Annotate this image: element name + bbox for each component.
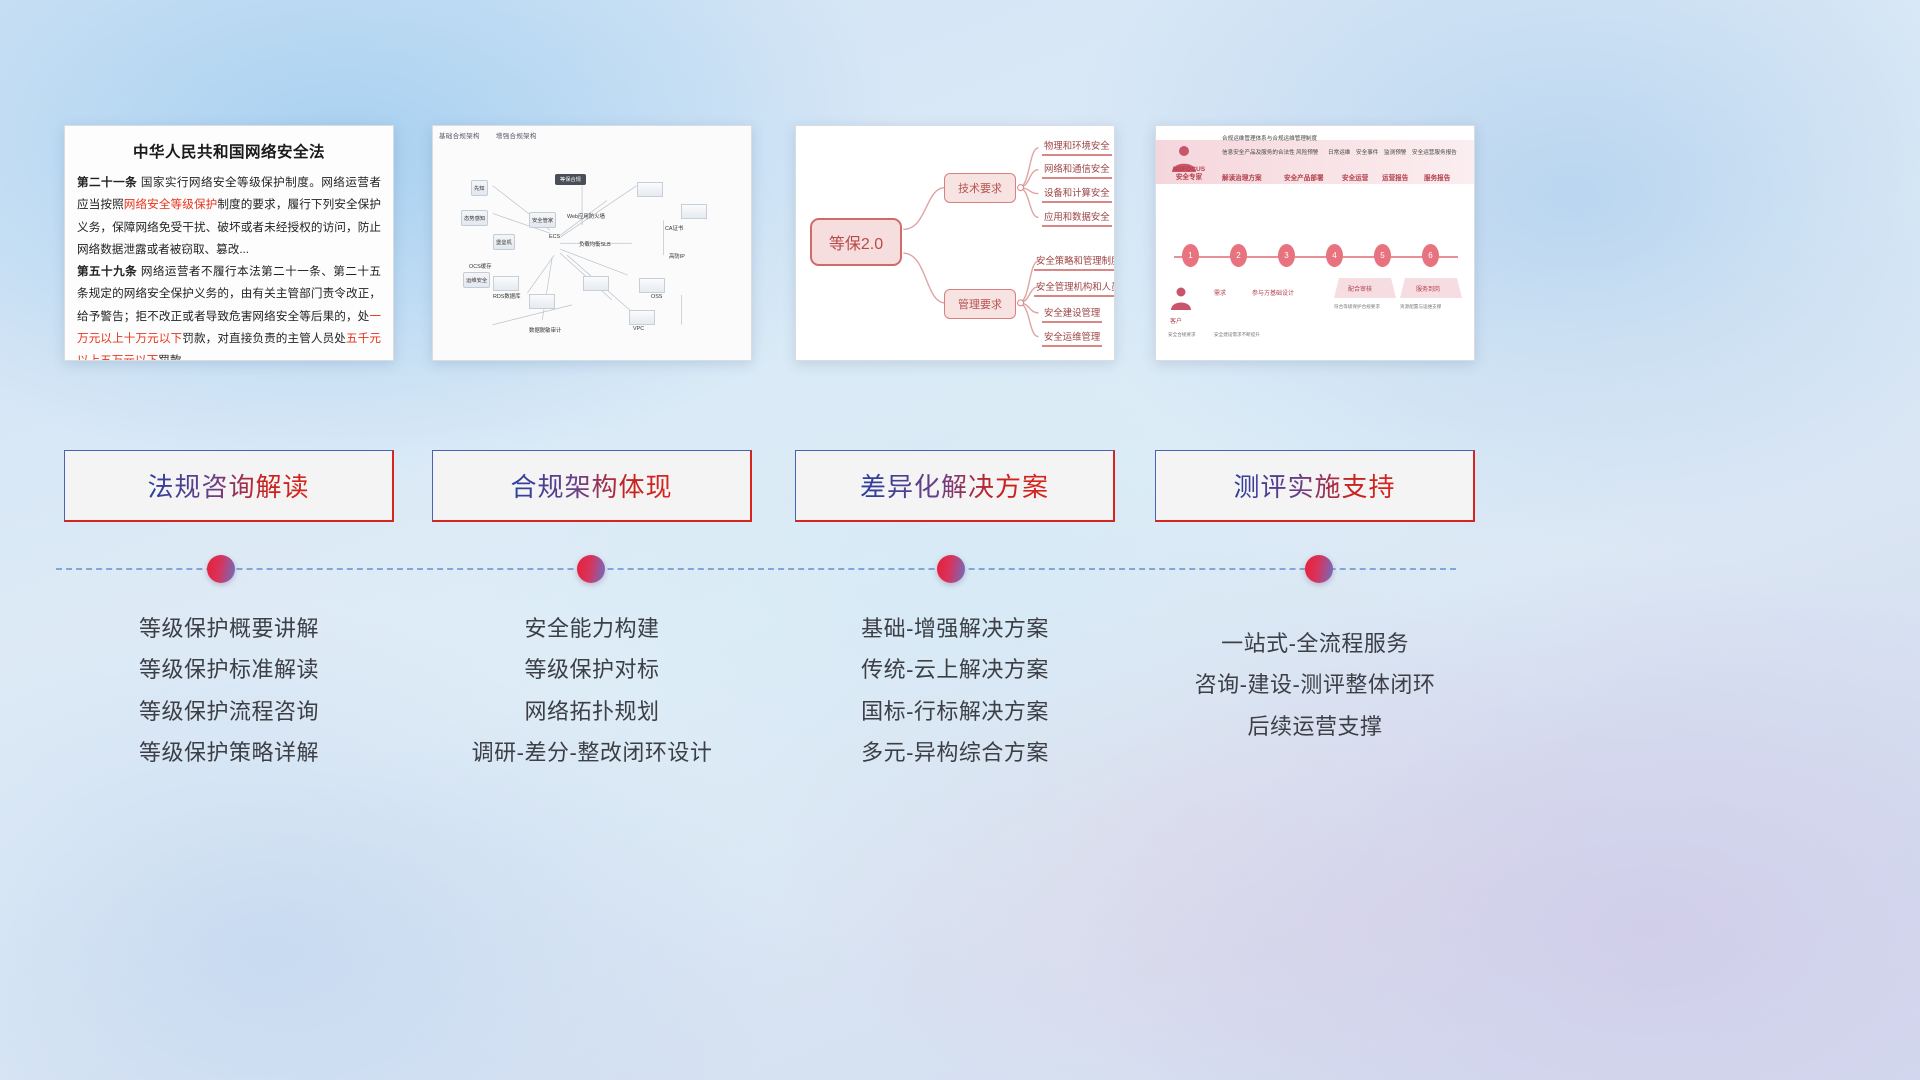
article-21-highlight: 网络安全等级保护 <box>124 198 218 211</box>
roadmap-brand-line1: NSFOCUS <box>1166 166 1212 174</box>
roadmap-top-tag-4: 监测预警 <box>1384 148 1406 156</box>
arch-shape-2 <box>583 276 609 291</box>
list-item: 安全能力构建 <box>432 608 752 649</box>
roadmap-node-4: 4 <box>1326 244 1343 267</box>
list-item: 等级保护流程咨询 <box>64 691 394 732</box>
architecture-canvas: 基础合规架构 增强合规架构 等保合规 先知 态势感知 安全管家 堡垒机 运维安全 <box>433 126 751 360</box>
roadmap-brand: NSFOCUS 安全专家 <box>1166 166 1212 182</box>
roadmap-step-title-1: 解读治理方案 <box>1222 172 1262 182</box>
roadmap-bottom-tag-2: 配合审核 <box>1348 284 1372 293</box>
list-item: 网络拓扑规划 <box>432 691 752 732</box>
section-heading-box-2[interactable]: 合规架构体现 <box>432 450 752 522</box>
arch-shape-4 <box>629 310 655 325</box>
mindmap-leaf-t1: 物理和环境安全 <box>1042 138 1112 156</box>
list-item: 咨询-建设-测评整体闭环 <box>1155 664 1475 705</box>
section-heading-box-1[interactable]: 法规咨询解读 <box>64 450 394 522</box>
arch-label-ca: CA证书 <box>665 224 683 232</box>
roadmap-tiny-2: 符合等级保护合规要求 <box>1334 304 1380 310</box>
timeline-dot-1[interactable] <box>207 555 235 583</box>
section-items-col-2: 安全能力构建 等级保护对标 网络拓扑规划 调研-差分-整改闭环设计 <box>432 608 752 773</box>
list-item: 等级保护对标 <box>432 649 752 690</box>
arch-label-ecs: ECS <box>549 234 560 240</box>
customer-icon <box>1166 284 1196 314</box>
roadmap-step-title-5: 服务报告 <box>1424 172 1450 182</box>
list-item: 等级保护概要讲解 <box>64 608 394 649</box>
roadmap-node-2: 2 <box>1230 244 1247 267</box>
roadmap-top-tag-1: 风险预警 <box>1296 148 1318 156</box>
timeline-dot-3[interactable] <box>937 555 965 583</box>
roadmap-node-6: 6 <box>1422 244 1439 267</box>
section-heading-label-4: 测评实施支持 <box>1233 467 1395 504</box>
roadmap-step-title-2: 安全产品部署 <box>1284 172 1324 182</box>
section-heading-label-2: 合规架构体现 <box>510 467 672 504</box>
list-item: 等级保护标准解读 <box>64 649 394 690</box>
mindmap-branch-technical: 技术要求 <box>944 173 1016 203</box>
mindmap-leaf-m4: 安全运维管理 <box>1042 329 1102 347</box>
list-item: 一站式-全流程服务 <box>1155 623 1475 664</box>
section-heading-box-3[interactable]: 差异化解决方案 <box>795 450 1115 522</box>
arch-shape-3 <box>639 278 665 293</box>
timeline-dot-4[interactable] <box>1305 555 1333 583</box>
roadmap-progress-line <box>1174 256 1458 258</box>
mindmap-leaf-t2: 网络和通信安全 <box>1042 161 1112 179</box>
mindmap-card: 等保2.0 技术要求 管理要求 物理和环境安全 网络和通信安全 设备和计算安全 … <box>795 125 1115 361</box>
section-items-col-4: 一站式-全流程服务 咨询-建设-测评整体闭环 后续运营支撑 <box>1155 623 1475 747</box>
roadmap-bottom-tag-3: 服务到岗 <box>1416 284 1440 293</box>
roadmap-node-1: 1 <box>1182 244 1199 267</box>
list-item: 多元-异构综合方案 <box>795 732 1115 773</box>
timeline-dot-2[interactable] <box>577 555 605 583</box>
roadmap-top-tag-6: 合规运维管理体系与合规运维管理制度 <box>1222 134 1317 142</box>
list-item: 调研-差分-整改闭环设计 <box>432 732 752 773</box>
mindmap-leaf-t4: 应用和数据安全 <box>1042 209 1112 227</box>
roadmap-brand-line2: 安全专家 <box>1166 174 1212 182</box>
mindmap-leaf-t3: 设备和计算安全 <box>1042 185 1112 203</box>
arch-label-oss: OSS <box>651 294 662 300</box>
law-card-body: 第二十一条 国家实行网络安全等级保护制度。网络运营者应当按照网络安全等级保护制度… <box>65 172 393 361</box>
roadmap-top-tag-3: 安全事件 <box>1356 148 1378 156</box>
arch-node-situation: 态势感知 <box>461 210 488 226</box>
mindmap-leaf-m3: 安全建设管理 <box>1042 305 1102 323</box>
article-59-label: 第五十九条 <box>77 265 137 278</box>
mindmap-leaf-m2: 安全管理机构和人员 <box>1034 279 1115 297</box>
roadmap-customer-label: 客户 <box>1170 316 1182 325</box>
section-heading-label-1: 法规咨询解读 <box>147 467 309 504</box>
section-heading-box-4[interactable]: 测评实施支持 <box>1155 450 1475 522</box>
section-headings-row: 法规咨询解读 合规架构体现 差异化解决方案 测评实施支持 <box>0 450 1920 522</box>
list-item: 后续运营支撑 <box>1155 706 1475 747</box>
arch-node-bastion: 堡垒机 <box>493 234 515 250</box>
roadmap-canvas: NSFOCUS 安全专家 信息安全产品及服务的合法性 风险预警 日常运维 安全事… <box>1156 126 1474 360</box>
list-item: 国标-行标解决方案 <box>795 691 1115 732</box>
mindmap-branch-management: 管理要求 <box>944 289 1016 319</box>
list-item: 等级保护策略详解 <box>64 732 394 773</box>
arch-shape-6 <box>637 182 663 197</box>
arch-label-ocs: OCS缓存 <box>469 262 491 270</box>
arch-label-slb: 负载均衡SLB <box>579 240 611 248</box>
arch-label-rds: RDS数据库 <box>493 292 521 300</box>
section-items-col-1: 等级保护概要讲解 等级保护标准解读 等级保护流程咨询 等级保护策略详解 <box>64 608 394 773</box>
roadmap-bottom-tag-1: 参与方基础设计 <box>1252 288 1294 297</box>
roadmap-bottom-tag-0: 需求 <box>1214 288 1226 297</box>
arch-shape-1 <box>529 294 555 309</box>
roadmap-tiny-0: 安全合规要求 <box>1168 332 1196 338</box>
arch-node-highlight: 等保合规 <box>555 174 586 185</box>
roadmap-step-title-3: 安全运营 <box>1342 172 1368 182</box>
roadmap-tiny-3: 资源配置与运维支撑 <box>1400 304 1441 310</box>
mindmap-root-node: 等保2.0 <box>810 218 902 266</box>
arch-label-vpc: VPC <box>633 326 644 332</box>
article-59-text-2: 罚款，对直接负责的主管人员处 <box>182 332 346 345</box>
list-item: 传统-云上解决方案 <box>795 649 1115 690</box>
roadmap-top-tag-0: 信息安全产品及服务的合法性 <box>1222 148 1295 156</box>
roadmap-card: NSFOCUS 安全专家 信息安全产品及服务的合法性 风险预警 日常运维 安全事… <box>1155 125 1475 361</box>
roadmap-node-5: 5 <box>1374 244 1391 267</box>
arch-shape-5 <box>493 276 519 291</box>
roadmap-top-tag-5: 安全运营服务报告 <box>1412 148 1457 156</box>
list-item: 基础-增强解决方案 <box>795 608 1115 649</box>
roadmap-tiny-1: 安全建设需求不断提升 <box>1214 332 1260 338</box>
law-text-card: 中华人民共和国网络安全法 第二十一条 国家实行网络安全等级保护制度。网络运营者应… <box>64 125 394 361</box>
mindmap-leaf-m1: 安全策略和管理制度 <box>1034 253 1115 271</box>
architecture-diagram-card: 基础合规架构 增强合规架构 等保合规 先知 态势感知 安全管家 堡垒机 运维安全 <box>432 125 752 361</box>
article-59-text-3: 罚款。 <box>158 354 193 361</box>
arch-node-opsec: 运维安全 <box>463 272 490 288</box>
arch-shape-7 <box>681 204 707 219</box>
section-items-col-3: 基础-增强解决方案 传统-云上解决方案 国标-行标解决方案 多元-异构综合方案 <box>795 608 1115 773</box>
arch-label-audit: 数据脱敏审计 <box>529 326 561 334</box>
arch-node-xianzhi: 先知 <box>471 180 488 196</box>
screenshot-cards-row: 中华人民共和国网络安全法 第二十一条 国家实行网络安全等级保护制度。网络运营者应… <box>0 125 1920 365</box>
arch-label-waf: Web应用防火墙 <box>567 212 605 220</box>
article-21-label: 第二十一条 <box>77 176 137 189</box>
roadmap-step-title-4: 运营报告 <box>1382 172 1408 182</box>
law-card-title: 中华人民共和国网络安全法 <box>65 140 393 162</box>
arch-label-antiddos: 高防IP <box>669 252 685 260</box>
roadmap-top-tag-2: 日常运维 <box>1328 148 1350 156</box>
arch-node-steward: 安全管家 <box>529 212 556 228</box>
section-heading-label-3: 差异化解决方案 <box>860 467 1049 504</box>
mindmap-canvas: 等保2.0 技术要求 管理要求 物理和环境安全 网络和通信安全 设备和计算安全 … <box>796 126 1114 360</box>
timeline-dashed-line <box>56 568 1456 570</box>
roadmap-node-3: 3 <box>1278 244 1295 267</box>
